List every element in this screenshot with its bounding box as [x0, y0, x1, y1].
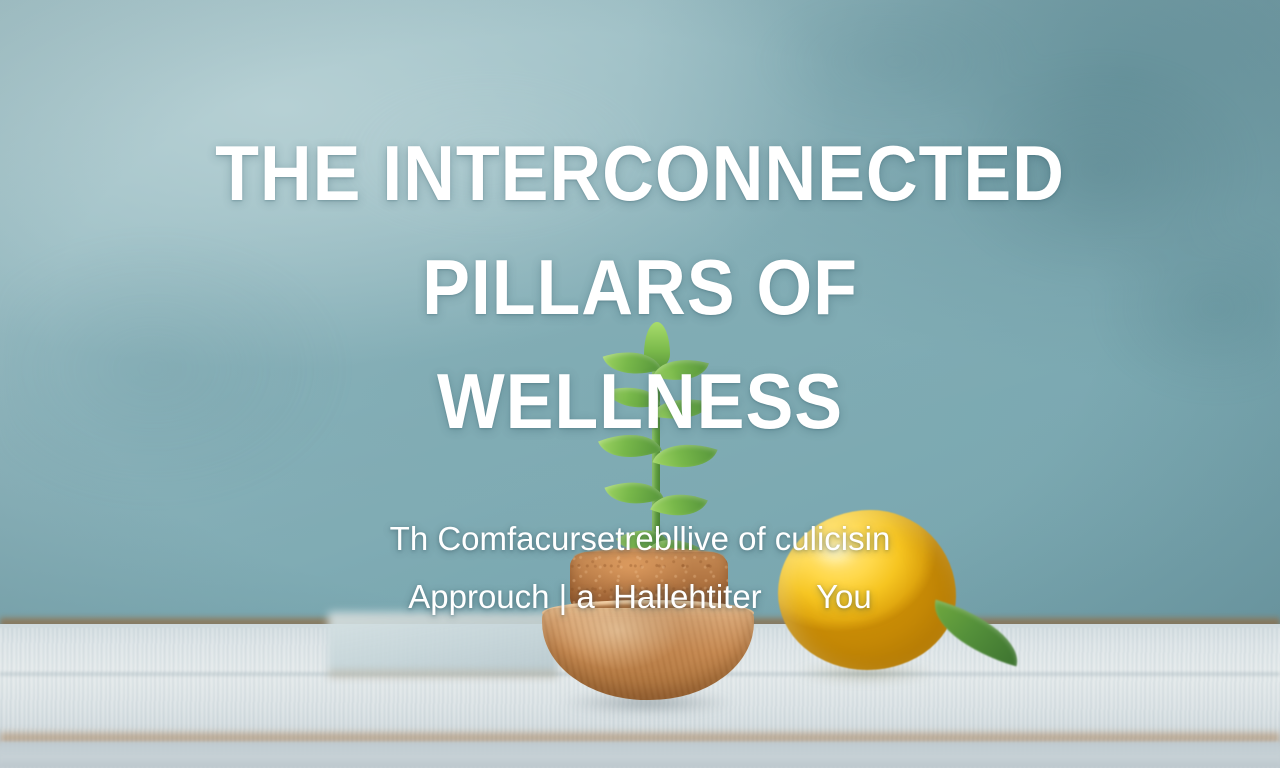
- subtitle-line-2: Approuch | a Hallehtiter You: [0, 580, 1280, 613]
- title-line-2: PILLARS OF: [51, 248, 1229, 326]
- subtitle-line-1: Th Comfacursetrebllive of culicisin: [0, 522, 1280, 555]
- title-line-3: WELLNESS: [51, 362, 1229, 440]
- title-line-1: THE INTERCONNECTED: [51, 134, 1229, 212]
- wellness-banner: THE INTERCONNECTED PILLARS OF WELLNESS T…: [0, 0, 1280, 768]
- blurred-board: [328, 612, 558, 676]
- table-front-plank: [0, 742, 1280, 768]
- title-line-3-text: WELLNESS: [437, 357, 843, 445]
